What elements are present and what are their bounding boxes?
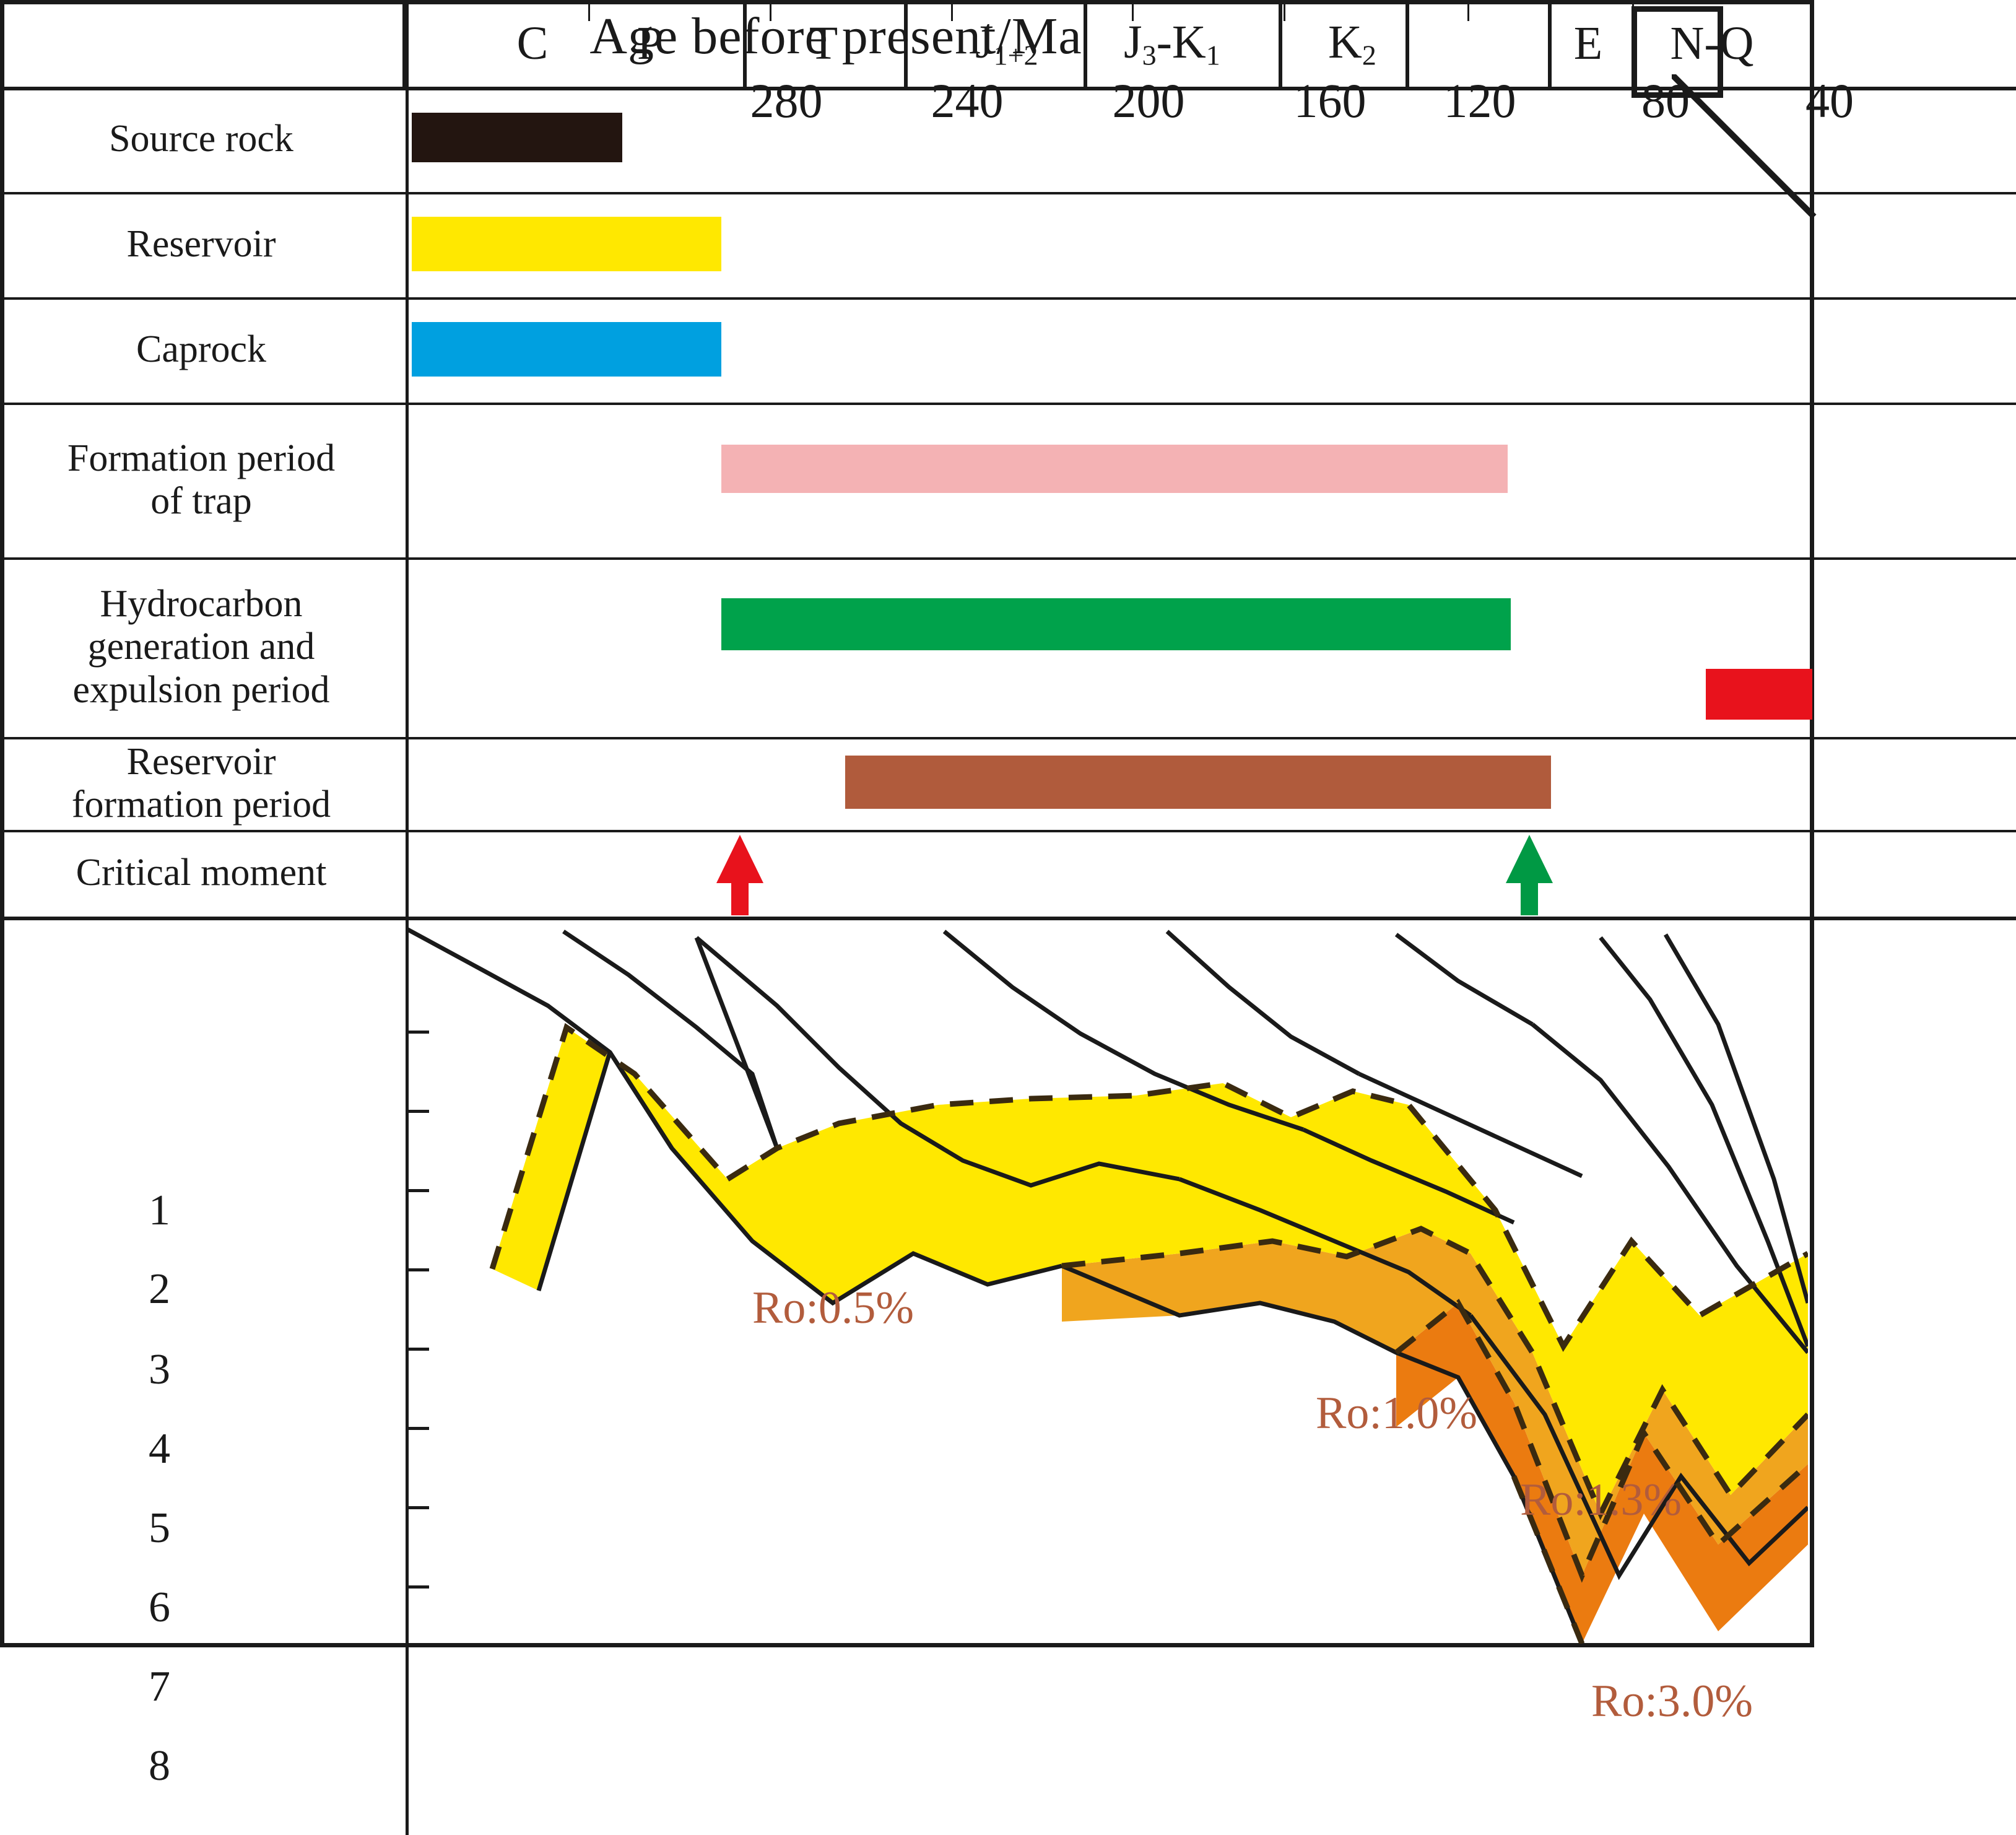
age-tick-120: 120 — [1444, 73, 1516, 129]
bar-hc-generation-red — [1706, 669, 1812, 720]
row-label-critical: Critical moment — [0, 830, 402, 917]
header-tick-80 — [1467, 0, 1469, 21]
row-label-source-rock: Source rock — [0, 87, 402, 192]
depth-tickmark-1 — [406, 1031, 429, 1034]
strat-k1-sub: 1 — [1206, 39, 1220, 71]
strat-j3-letter: J — [1124, 16, 1142, 68]
strat-j12-letter: J — [975, 16, 994, 68]
strat-k1-letter: K — [1172, 16, 1206, 68]
row-label-hc-gen: Hydrocarbon generation and expulsion per… — [0, 557, 402, 737]
bar-trap-formation — [721, 445, 1508, 493]
ro-label-1-3: Ro:1.3% — [1520, 1474, 1682, 1527]
strat-dash: - — [1157, 16, 1172, 68]
depth-tickmark-8 — [406, 1585, 429, 1589]
depth-tickmark-2 — [406, 1110, 429, 1113]
bar-reservoir-formation — [845, 756, 1551, 809]
depth-tick-7: 7 — [115, 1662, 170, 1712]
depth-tick-1: 1 — [115, 1186, 170, 1236]
bar-caprock — [412, 322, 721, 377]
header-tick-200 — [951, 0, 953, 21]
depth-tick-5: 5 — [115, 1504, 170, 1553]
depth-tick-2: 2 — [115, 1265, 170, 1314]
depth-tick-4: 4 — [115, 1424, 170, 1474]
depth-tick-8: 8 — [115, 1741, 170, 1791]
strat-label-c: C — [477, 0, 588, 87]
depth-tick-3: 3 — [115, 1345, 170, 1395]
critical-moment-arrow-red — [709, 835, 771, 915]
bar-reservoir — [412, 217, 721, 271]
ro-label-1-0: Ro:1.0% — [1316, 1387, 1477, 1440]
depth-tickmark-3 — [406, 1189, 429, 1192]
events-chart-frame: C P T J1+2 J3-K1 K2 E N-Q Source rock Re… — [0, 0, 1814, 1647]
depth-tickmark-5 — [406, 1348, 429, 1351]
strat-k2-sub: 2 — [1362, 39, 1376, 71]
depth-tickmark-7 — [406, 1506, 429, 1509]
strat-label-p: P — [594, 0, 706, 87]
strat-label-t: T — [743, 0, 904, 87]
age-tick-160: 160 — [1294, 73, 1366, 129]
strat-divider-3 — [1084, 0, 1087, 87]
strat-j3-sub: 3 — [1142, 39, 1157, 71]
depth-tickmark-6 — [406, 1427, 429, 1430]
critical-moment-arrow-green — [1498, 835, 1560, 915]
header-tick-120 — [1284, 0, 1285, 21]
age-tick-240: 240 — [931, 73, 1004, 129]
depth-tickmark-4 — [406, 1268, 429, 1271]
row-label-caprock: Caprock — [0, 297, 402, 403]
strat-divider-2 — [904, 0, 908, 87]
strat-k2-letter: K — [1328, 16, 1362, 68]
row-label-reservoir: Reservoir — [0, 192, 402, 297]
depth-tick-6: 6 — [115, 1583, 170, 1632]
nq-callout-leader — [1672, 74, 1827, 229]
ro-label-3-0: Ro:3.0% — [1591, 1675, 1753, 1728]
header-tick-280 — [588, 0, 590, 21]
burial-history-plot — [406, 919, 1808, 1644]
ro-label-0-5: Ro:0.5% — [752, 1282, 914, 1335]
row-label-trap: Formation period of trap — [0, 403, 402, 557]
row-label-res-form: Reservoir formation period — [0, 737, 402, 830]
bar-source-rock — [412, 113, 622, 162]
bar-hc-generation-green — [721, 598, 1511, 650]
strat-j12-sub: 1+2 — [994, 39, 1038, 71]
strat-divider-5 — [1406, 0, 1409, 87]
strat-divider-4 — [1279, 0, 1282, 87]
strat-label-e: E — [1548, 0, 1628, 87]
age-tick-200: 200 — [1113, 73, 1185, 129]
